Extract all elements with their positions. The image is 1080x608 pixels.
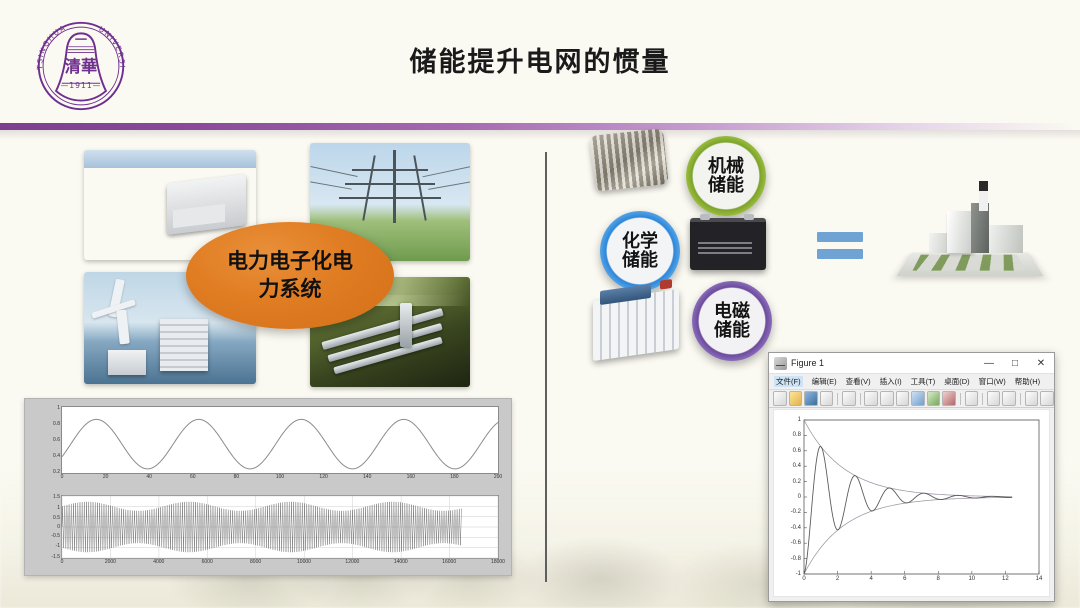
menu-item-desktop[interactable]: 桌面(D) [944, 376, 969, 387]
matlab-figure-window[interactable]: Figure 1 — □ ✕ 文件(F) 编辑(E) 查看(V) 插入(I) 工… [768, 352, 1055, 602]
electromagnetic-label-1: 电磁 [714, 302, 750, 321]
rotate-3d-icon[interactable] [911, 391, 925, 406]
toolbar[interactable] [769, 390, 1054, 408]
xtick: 10 [968, 576, 975, 582]
xtick: 2000 [105, 559, 116, 565]
damped-oscillation-chart: 1 0.8 0.6 0.4 0.2 0 -0.2 -0.4 -0.6 -0.8 … [804, 420, 1039, 574]
callout-line-1: 电力电子化电 [227, 248, 353, 275]
equals-sign-icon [817, 232, 863, 258]
header-divider [0, 123, 1080, 130]
device-flywheel [589, 128, 668, 191]
ytick: -1.5 [51, 554, 60, 560]
mechanical-label-2: 储能 [708, 176, 744, 195]
menu-item-edit[interactable]: 编辑(E) [812, 376, 837, 387]
xtick: 0 [61, 559, 64, 565]
xtick: 8000 [250, 559, 261, 565]
xtick: 8 [937, 576, 940, 582]
maximize-button[interactable]: □ [1002, 353, 1028, 373]
figure-canvas[interactable]: 1 0.8 0.6 0.4 0.2 0 -0.2 -0.4 -0.6 -0.8 … [773, 409, 1050, 597]
window-title: Figure 1 [791, 358, 976, 368]
toolbar-separator [1020, 393, 1021, 405]
xtick: 12 [1002, 576, 1009, 582]
minimize-button[interactable]: — [976, 353, 1002, 373]
close-button[interactable]: ✕ [1028, 353, 1054, 373]
xtick: 40 [146, 474, 152, 480]
xtick: 100 [276, 474, 284, 480]
slide-canvas: 清華 —1911— TSINGHUA UNIVERSITY 储能提升电网的惯量 … [0, 0, 1080, 608]
chemical-label-2: 储能 [622, 251, 658, 270]
device-lead-acid-battery [690, 218, 766, 270]
toolbar-separator [860, 393, 861, 405]
xtick: 60 [190, 474, 196, 480]
device-supercapacitor-bank [593, 289, 679, 361]
xtick: 6000 [202, 559, 213, 565]
menu-item-insert[interactable]: 插入(I) [880, 376, 902, 387]
menu-item-tools[interactable]: 工具(T) [911, 376, 936, 387]
ytick: -0.5 [51, 533, 60, 539]
ytick: -0.4 [791, 525, 801, 531]
menu-item-view[interactable]: 查看(V) [846, 376, 871, 387]
xtick: 4 [870, 576, 873, 582]
header-divider-shadow [0, 130, 1080, 140]
xtick: 160 [407, 474, 415, 480]
callout-line-2: 力系统 [259, 276, 322, 303]
window-title-bar[interactable]: Figure 1 — □ ✕ [769, 353, 1054, 374]
xtick: 2 [836, 576, 839, 582]
electromagnetic-label-2: 储能 [714, 321, 750, 340]
svg-text:—1911—: —1911— [61, 81, 102, 90]
ytick: 1 [798, 417, 801, 423]
xtick: 6 [903, 576, 906, 582]
storage-node-mechanical: 机械 储能 [686, 136, 766, 216]
xtick: 14000 [394, 559, 408, 565]
menu-item-help[interactable]: 帮助(H) [1015, 376, 1040, 387]
ytick: -0.2 [791, 509, 801, 515]
zoom-out-icon[interactable] [880, 391, 894, 406]
pan-icon[interactable] [896, 391, 910, 406]
xtick: 180 [450, 474, 458, 480]
ytick: 0.4 [53, 453, 60, 459]
xtick: 10000 [297, 559, 311, 565]
xtick: 120 [319, 474, 327, 480]
xtick: 20 [103, 474, 109, 480]
power-electronics-callout: 电力电子化电 力系统 [186, 222, 394, 329]
zoom-in-icon[interactable] [864, 391, 878, 406]
open-file-icon[interactable] [789, 391, 803, 406]
ytick: 1 [57, 505, 60, 511]
xtick: 12000 [345, 559, 359, 565]
toolbar-separator [960, 393, 961, 405]
menu-bar[interactable]: 文件(F) 编辑(E) 查看(V) 插入(I) 工具(T) 桌面(D) 窗口(W… [769, 374, 1054, 390]
chemical-label-1: 化学 [622, 232, 658, 251]
save-icon[interactable] [804, 391, 818, 406]
mechanical-label-1: 机械 [708, 157, 744, 176]
xtick: 0 [61, 474, 64, 480]
xtick: 140 [363, 474, 371, 480]
xtick: 18000 [491, 559, 505, 565]
ytick: 0.5 [53, 515, 60, 521]
xtick: 200 [494, 474, 502, 480]
brush-icon[interactable] [942, 391, 956, 406]
menu-item-file[interactable]: 文件(F) [774, 376, 803, 387]
insert-legend-icon[interactable] [1002, 391, 1016, 406]
xtick: 14 [1036, 576, 1043, 582]
show-plot-tools-icon[interactable] [1040, 391, 1054, 406]
sine-waveform-plot [62, 407, 498, 473]
xtick: 16000 [442, 559, 456, 565]
modulated-waveform-chart: 1.5 1 0.5 0 -0.5 -1 -1.5 0 2000 4000 600… [61, 495, 499, 559]
ytick: -0.6 [791, 540, 801, 546]
storage-node-electromagnetic: 电磁 储能 [692, 281, 772, 361]
pointer-icon[interactable] [842, 391, 856, 406]
ytick: 0.8 [53, 421, 60, 427]
ytick: 1 [57, 405, 60, 411]
ytick: 0.6 [53, 437, 60, 443]
xtick: 0 [802, 576, 805, 582]
ytick: 0 [798, 494, 801, 500]
menu-item-window[interactable]: 窗口(W) [979, 376, 1006, 387]
xtick: 4000 [153, 559, 164, 565]
toolbar-separator [837, 393, 838, 405]
sine-waveform-chart: 1 0.8 0.6 0.4 0.2 0 20 40 60 80 100 120 … [61, 406, 499, 474]
ytick: 0.4 [793, 463, 801, 469]
hide-plot-tools-icon[interactable] [1025, 391, 1039, 406]
vertical-divider [545, 152, 547, 582]
insert-colorbar-icon[interactable] [987, 391, 1001, 406]
waveform-figure-panel: 1 0.8 0.6 0.4 0.2 0 20 40 60 80 100 120 … [24, 398, 512, 576]
ytick: 0.6 [793, 448, 801, 454]
data-cursor-icon[interactable] [927, 391, 941, 406]
ytick: 0.2 [793, 479, 801, 485]
print-icon[interactable] [820, 391, 834, 406]
ytick: 0.8 [793, 432, 801, 438]
ytick: 0.2 [53, 469, 60, 475]
modulated-waveform-plot [62, 496, 498, 558]
matlab-figure-icon [774, 357, 787, 370]
ytick: 0 [57, 524, 60, 530]
ytick: -0.8 [791, 556, 801, 562]
damped-oscillation-plot [804, 420, 1039, 574]
new-figure-icon[interactable] [773, 391, 787, 406]
page-title: 储能提升电网的惯量 [0, 40, 1080, 79]
ytick: 1.5 [53, 494, 60, 500]
thermal-power-plant-illustration [905, 195, 1035, 290]
link-plot-icon[interactable] [965, 391, 979, 406]
ytick: -1 [56, 543, 60, 549]
toolbar-separator [982, 393, 983, 405]
xtick: 80 [234, 474, 240, 480]
ytick: -1 [796, 571, 801, 577]
